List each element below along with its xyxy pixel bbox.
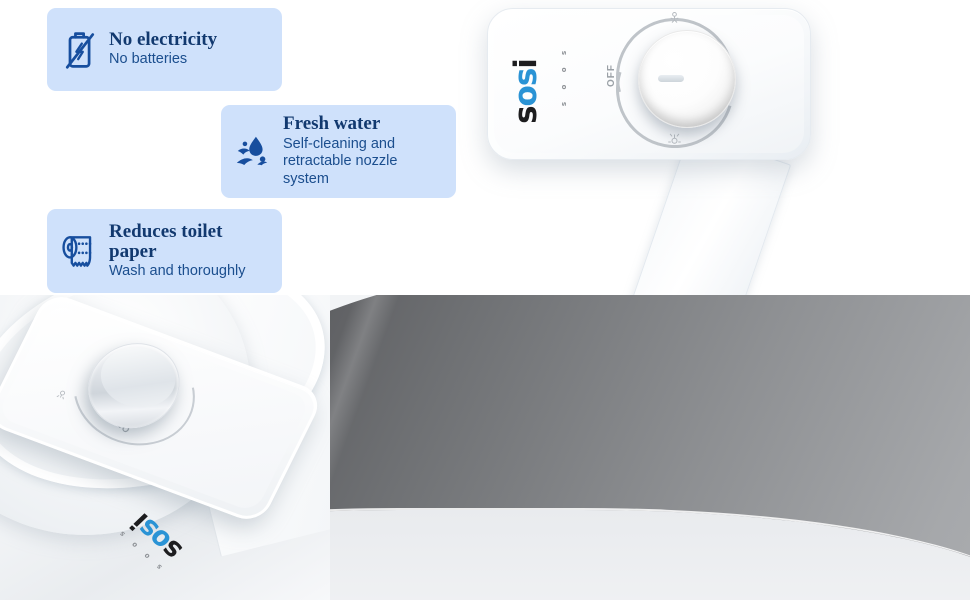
- brand-wordmark-bottom: sosi: [127, 509, 188, 564]
- feature-card-fresh-water: Fresh water Self-cleaning and retractabl…: [221, 105, 456, 198]
- feature-card-text: No electricity No batteries: [109, 30, 217, 69]
- water-splash-icon: [231, 131, 277, 173]
- top-product-section: sosi s o o s OFF: [0, 0, 970, 295]
- bottom-product-section: OFF FO s o o s sosi Exclusive Design A b…: [0, 295, 970, 600]
- feature-card-text: Reduces toilet paper Wash and thoroughly: [109, 222, 268, 281]
- dial-off-label: OFF: [606, 64, 617, 87]
- toilet-paper-roll-icon: [57, 231, 103, 271]
- feature-title: Reduces toilet paper: [109, 222, 268, 262]
- feature-desc: Self-cleaning and retractable nozzle sys…: [283, 136, 442, 189]
- feature-card-text: Fresh water Self-cleaning and retractabl…: [283, 114, 442, 188]
- brand-wordmark: sosi: [511, 59, 542, 124]
- rear-wash-icon: [667, 10, 682, 28]
- battery-crossed-icon: [57, 30, 103, 70]
- feature-title: No electricity: [109, 30, 217, 50]
- feature-card-no-electricity: No electricity No batteries: [47, 8, 282, 91]
- front-wash-icon: [667, 132, 682, 150]
- dial-knob-top[interactable]: [638, 30, 736, 128]
- product-photo-toilet: OFF FO s o o s sosi: [0, 295, 330, 600]
- control-dial-top[interactable]: OFF: [598, 12, 748, 152]
- dial-knob-indicator: [658, 75, 684, 82]
- feature-title: Fresh water: [283, 114, 442, 134]
- feature-card-reduces-paper: Reduces toilet paper Wash and thoroughly: [47, 209, 282, 293]
- feature-desc: No batteries: [109, 51, 217, 69]
- brand-tagline: s o o s: [560, 46, 568, 106]
- feature-desc: Wash and thoroughly: [109, 263, 268, 281]
- brand-logo-top: sosi s o o s: [500, 42, 580, 138]
- product-marketing-image: sosi s o o s OFF: [0, 0, 970, 600]
